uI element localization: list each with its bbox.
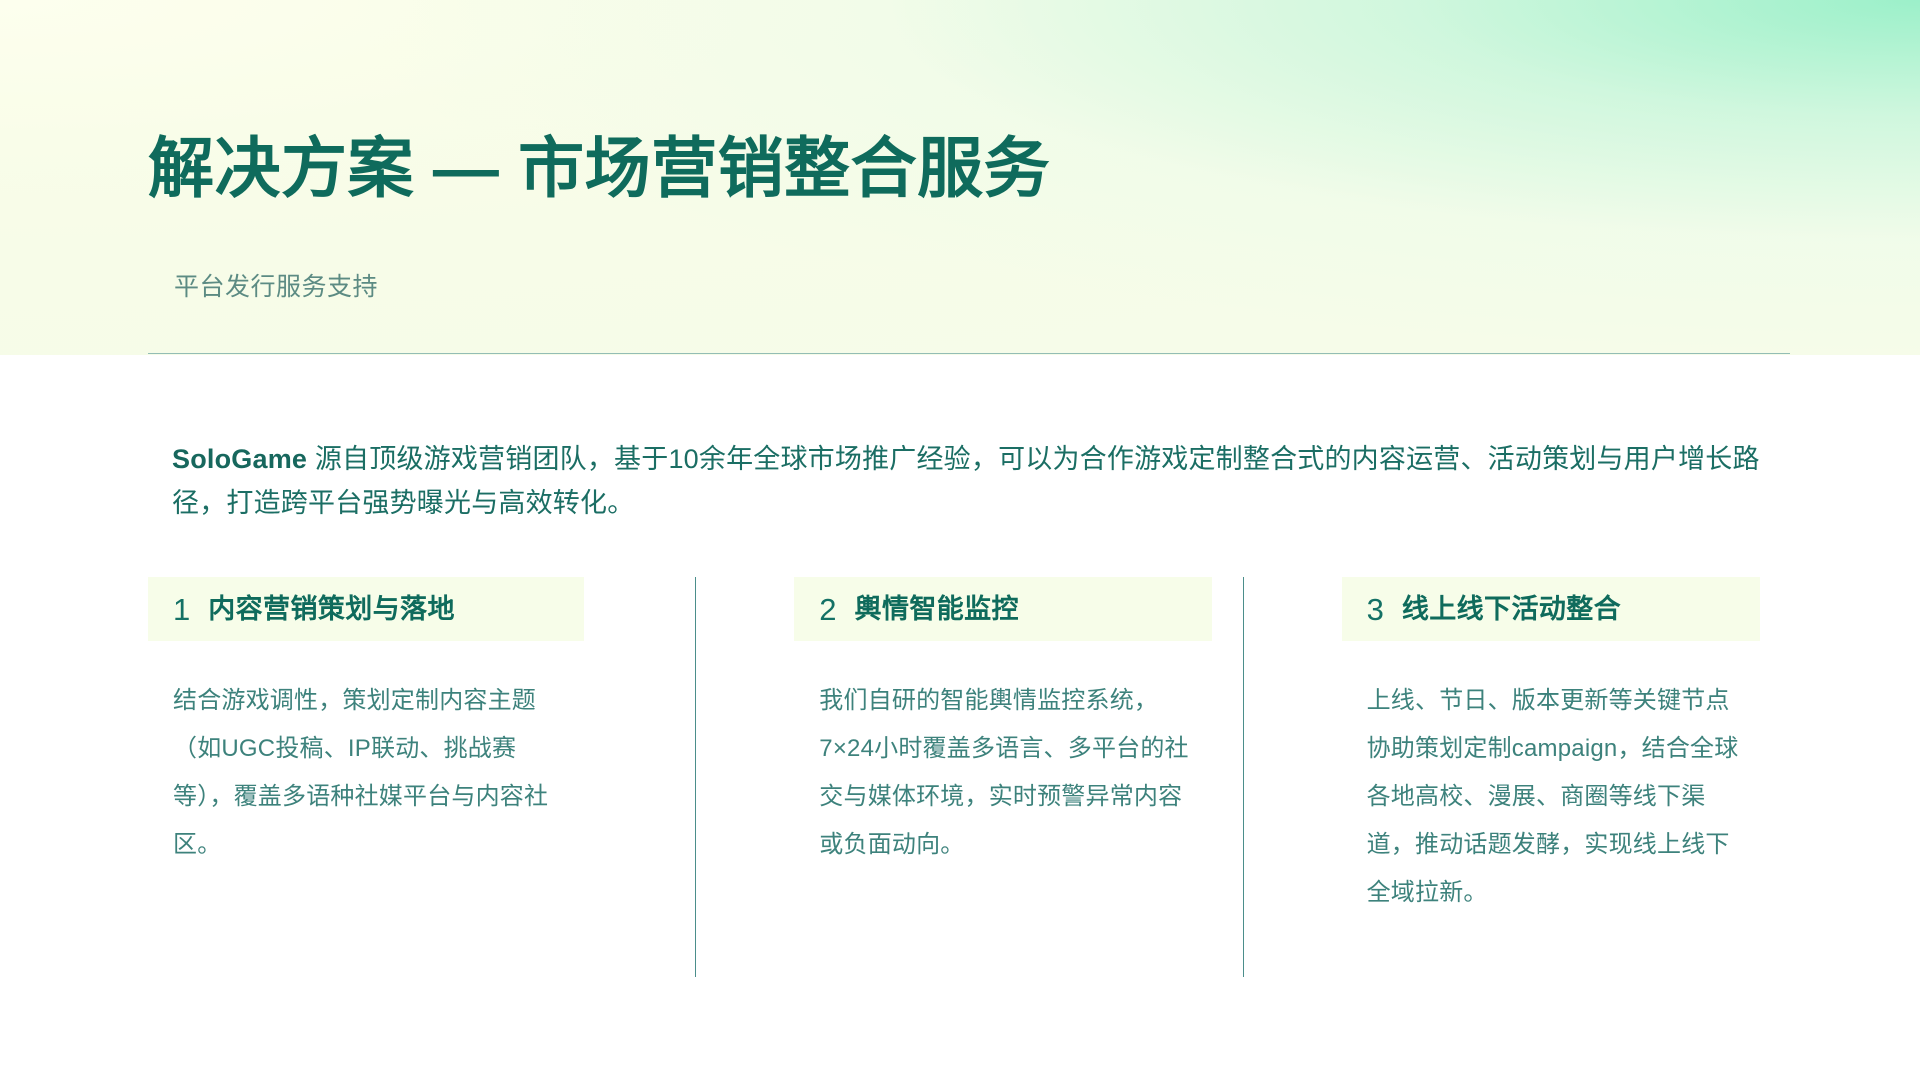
card-header-1: 1 内容营销策划与落地 bbox=[148, 577, 584, 641]
card-header-2: 2 輿情智能监控 bbox=[794, 577, 1212, 641]
intro-paragraph: SoloGame 源自顶级游戏营销团队，基于10余年全球市场推广经验，可以为合作… bbox=[172, 437, 1760, 525]
page-title: 解决方案 — 市场营销整合服务 bbox=[148, 132, 1050, 204]
page-subtitle: 平台发行服务支持 bbox=[174, 272, 378, 302]
feature-columns: 1 内容营销策划与落地 结合游戏调性，策划定制内容主题（如UGC投稿、IP联动、… bbox=[148, 577, 1790, 977]
header-divider-rule bbox=[148, 353, 1790, 354]
card-number-3: 3 bbox=[1367, 594, 1384, 625]
slide-root: 解决方案 — 市场营销整合服务 平台发行服务支持 SoloGame 源自顶级游戏… bbox=[0, 0, 1920, 1080]
card-number-1: 1 bbox=[173, 594, 190, 625]
card-title-3: 线上线下活动整合 bbox=[1402, 596, 1621, 623]
feature-column-2-inner: 2 輿情智能监控 我们自研的智能輿情监控系统，7×24小时覆盖多语言、多平台的社… bbox=[696, 577, 1242, 977]
feature-column-1: 1 内容营销策划与落地 结合游戏调性，策划定制内容主题（如UGC投稿、IP联动、… bbox=[148, 577, 695, 977]
intro-text: 源自顶级游戏营销团队，基于10余年全球市场推广经验，可以为合作游戏定制整合式的内… bbox=[172, 444, 1760, 518]
feature-column-2: 2 輿情智能监控 我们自研的智能輿情监控系统，7×24小时覆盖多语言、多平台的社… bbox=[695, 577, 1242, 977]
card-header-3: 3 线上线下活动整合 bbox=[1342, 577, 1760, 641]
feature-column-3: 3 线上线下活动整合 上线、节日、版本更新等关键节点协助策划定制campaign… bbox=[1243, 577, 1790, 977]
card-number-2: 2 bbox=[819, 594, 836, 625]
header-band: 解决方案 — 市场营销整合服务 平台发行服务支持 bbox=[0, 0, 1920, 355]
feature-column-1-inner: 1 内容营销策划与落地 结合游戏调性，策划定制内容主题（如UGC投稿、IP联动、… bbox=[148, 577, 695, 977]
card-body-3: 上线、节日、版本更新等关键节点协助策划定制campaign，结合全球各地高校、漫… bbox=[1342, 677, 1742, 917]
card-title-1: 内容营销策划与落地 bbox=[208, 596, 455, 623]
feature-column-3-inner: 3 线上线下活动整合 上线、节日、版本更新等关键节点协助策划定制campaign… bbox=[1244, 577, 1790, 977]
brand-name: SoloGame bbox=[172, 444, 307, 474]
card-title-2: 輿情智能监控 bbox=[855, 596, 1019, 623]
card-body-1: 结合游戏调性，策划定制内容主题（如UGC投稿、IP联动、挑战赛等），覆盖多语种社… bbox=[148, 677, 552, 869]
card-body-2: 我们自研的智能輿情监控系统，7×24小时覆盖多语言、多平台的社交与媒体环境，实时… bbox=[794, 677, 1198, 869]
header-content: 解决方案 — 市场营销整合服务 平台发行服务支持 bbox=[148, 0, 1788, 355]
